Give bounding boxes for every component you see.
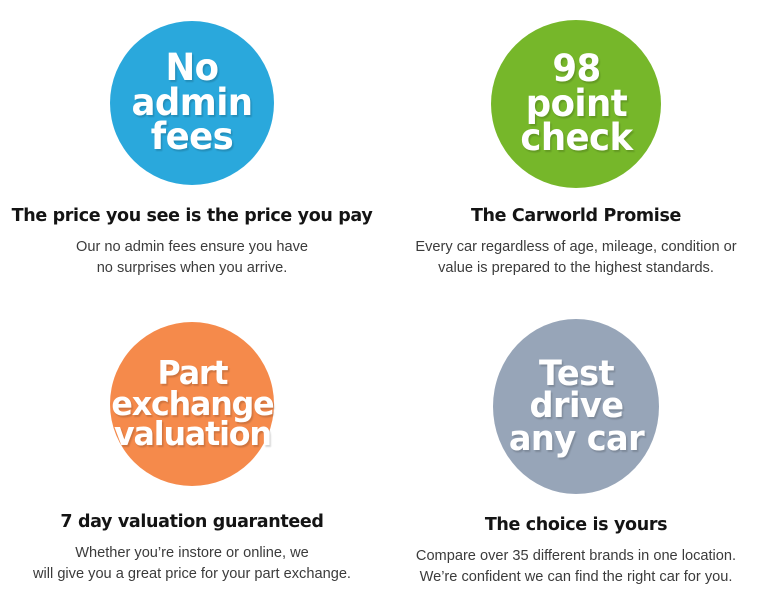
- badge-circle-no-admin-fees: No admin fees: [110, 21, 274, 185]
- badge-circle-98-point-check: 98 point check: [491, 20, 661, 188]
- benefit-body: Whether you’re instore or online, we wil…: [0, 543, 384, 584]
- badge-label: Test drive any car: [508, 358, 643, 456]
- benefit-heading: 7 day valuation guaranteed: [0, 512, 384, 532]
- badge-label: No admin fees: [132, 51, 253, 154]
- benefit-heading: The price you see is the price you pay: [0, 206, 384, 226]
- benefit-card-test-drive-any-car[interactable]: Test drive any car The choice is yours C…: [384, 307, 768, 614]
- benefit-card-part-exchange-valuation[interactable]: Part exchange valuation 7 day valuation …: [0, 307, 384, 614]
- benefit-card-no-admin-fees[interactable]: No admin fees The price you see is the p…: [0, 0, 384, 307]
- benefit-heading: The Carworld Promise: [384, 206, 768, 226]
- benefit-body: Compare over 35 different brands in one …: [384, 546, 768, 587]
- badge-label: 98 point check: [520, 52, 632, 155]
- badge-circle-test-drive-any-car: Test drive any car: [493, 319, 659, 494]
- badge-circle-part-exchange-valuation: Part exchange valuation: [110, 322, 274, 486]
- badge-label: Part exchange valuation: [111, 358, 273, 450]
- benefit-body: Every car regardless of age, mileage, co…: [384, 237, 768, 278]
- benefit-body: Our no admin fees ensure you have no sur…: [0, 237, 384, 278]
- benefits-grid: No admin fees The price you see is the p…: [0, 0, 768, 614]
- benefit-heading: The choice is yours: [384, 515, 768, 535]
- benefit-card-98-point-check[interactable]: 98 point check The Carworld Promise Ever…: [384, 0, 768, 307]
